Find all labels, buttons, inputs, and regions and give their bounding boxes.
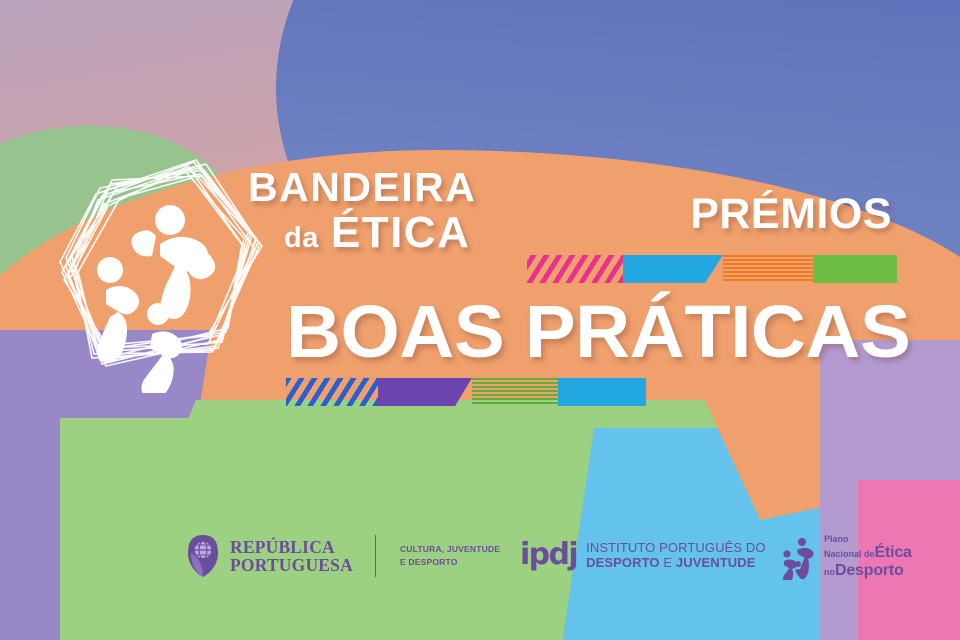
bar-segment-cyan-trapezoid <box>623 255 723 283</box>
ipdj-fullname: INSTITUTO PORTUGUÊS DO DESPORTO E JUVENT… <box>586 540 765 571</box>
ipdj-word-e: E <box>663 555 672 570</box>
bar-segment-blue-diagonal-stripes <box>286 378 378 406</box>
bar-segment-purple-trapezoid <box>378 378 472 406</box>
logo-republica-portuguesa: REPÚBLICA PORTUGUESA CULTURA, JUVENTUDE … <box>186 533 500 579</box>
republica-line-2: PORTUGUESA <box>230 555 353 575</box>
logo-ipdj: ipdj INSTITUTO PORTUGUÊS DO DESPORTO E J… <box>520 540 766 571</box>
pned-word-no: no <box>824 567 835 577</box>
bar-segment-magenta-diagonal-stripes <box>527 255 623 283</box>
pned-line-plano: Plano <box>824 534 912 544</box>
logo-divider <box>375 535 376 577</box>
republica-line-1: REPÚBLICA <box>230 537 335 557</box>
pned-line-nacional: Nacional deÉtica <box>824 544 912 562</box>
pned-word-nacional-de: Nacional de <box>824 549 875 559</box>
bandeira-da-etica-logo-icon <box>48 148 278 393</box>
brand-word-etica: ÉTICA <box>331 208 471 257</box>
poster-canvas: BANDEIRA daÉTICA PRÉMIOS BOAS PRÁTICAS <box>0 0 960 640</box>
decorative-bar-top <box>527 255 897 283</box>
ipdj-word-juventude: JUVENTUDE <box>676 555 756 570</box>
republica-subtitle-line-1: CULTURA, JUVENTUDE <box>400 544 500 554</box>
armillary-sphere-shield-icon <box>186 533 220 579</box>
pned-word-etica: Ética <box>875 544 912 561</box>
eyebrow-premios: PRÉMIOS <box>690 190 892 239</box>
decorative-bar-bottom <box>286 378 646 406</box>
pned-wordmark: Plano Nacional deÉtica noDesporto <box>824 534 912 580</box>
ipdj-wordmark: ipdj <box>520 540 577 570</box>
republica-portuguesa-wordmark: REPÚBLICA PORTUGUESA <box>230 538 353 574</box>
ipdj-line-1: INSTITUTO PORTUGUÊS DO <box>586 540 765 555</box>
bar-segment-orange-horizontal-stripes <box>723 255 813 283</box>
republica-subtitle: CULTURA, JUVENTUDE E DESPORTO <box>400 543 500 569</box>
pned-word-desporto: Desporto <box>835 562 904 579</box>
pned-line-desporto: noDesporto <box>824 562 912 580</box>
ipdj-line-2: DESPORTO E JUVENTUDE <box>586 555 765 570</box>
logo-pned: Plano Nacional deÉtica noDesporto <box>778 534 912 580</box>
ipdj-word-desporto: DESPORTO <box>586 555 660 570</box>
brand-word-da: da <box>284 222 319 254</box>
bar-segment-green-horizontal-stripes <box>472 378 558 406</box>
pned-figures-icon <box>778 534 818 580</box>
brand-lockup: BANDEIRA daÉTICA <box>248 168 476 255</box>
headline-boas-praticas: BOAS PRÁTICAS <box>286 295 910 369</box>
bar-segment-cyan-solid <box>558 378 646 406</box>
brand-line-da-etica: daÉTICA <box>248 212 476 254</box>
brand-line-bandeira: BANDEIRA <box>248 168 476 207</box>
bar-segment-green-solid <box>813 255 897 283</box>
republica-subtitle-line-2: E DESPORTO <box>400 557 458 567</box>
